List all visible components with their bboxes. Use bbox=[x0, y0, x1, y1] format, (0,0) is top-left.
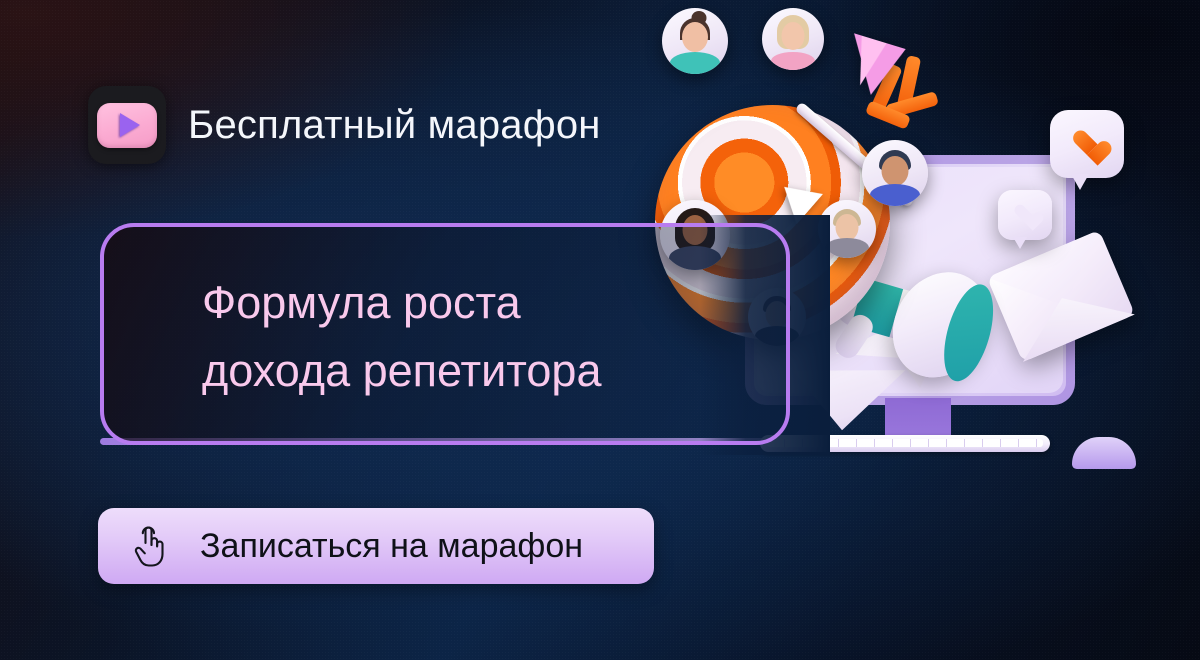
heart-icon-white bbox=[1014, 205, 1036, 225]
heart-icon-orange bbox=[1072, 131, 1102, 158]
hero-title-line-2: дохода репетитора bbox=[202, 337, 602, 405]
play-triangle-icon bbox=[120, 113, 140, 137]
avatar bbox=[862, 140, 928, 206]
signup-button-label: Записаться на марафон bbox=[200, 527, 583, 566]
signup-button[interactable]: Записаться на марафон bbox=[98, 508, 654, 584]
brand-header: Бесплатный марафон bbox=[88, 86, 601, 164]
desk-blob bbox=[1072, 437, 1136, 469]
play-button-icon bbox=[97, 103, 157, 148]
heart-reaction-bubble-small bbox=[998, 190, 1052, 240]
logo-tile bbox=[88, 86, 166, 164]
promo-banner: Бесплатный марафон Формула роста дохода … bbox=[0, 0, 1200, 660]
hero-title-card: Формула роста дохода репетитора bbox=[100, 223, 790, 445]
heart-reaction-bubble-large bbox=[1050, 110, 1124, 178]
header-title: Бесплатный марафон bbox=[188, 103, 601, 148]
keyboard bbox=[760, 435, 1050, 452]
hero-title-line-1: Формула роста bbox=[202, 269, 521, 337]
pointing-hand-icon bbox=[130, 524, 170, 568]
paper-plane-pink-icon bbox=[838, 33, 905, 100]
avatar bbox=[818, 200, 876, 258]
avatar bbox=[762, 8, 824, 70]
avatar bbox=[662, 8, 728, 74]
